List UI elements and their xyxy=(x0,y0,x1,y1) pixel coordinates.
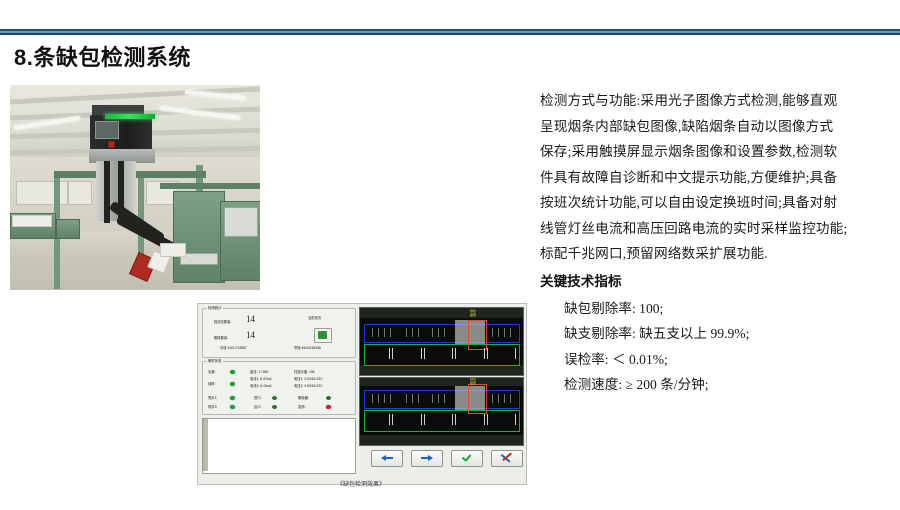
event-log-list[interactable] xyxy=(202,418,356,474)
settings-button[interactable] xyxy=(491,450,523,467)
spec-list: 缺包剔除率: 100; 缺支剔除率: 缺五支以上 99.9%; 误检率: ＜ 0… xyxy=(540,296,888,398)
reject-count-value: 14 xyxy=(246,331,255,340)
roi-blue-band xyxy=(364,390,520,409)
estop-label: 急停: xyxy=(298,405,306,409)
refresh-button[interactable] xyxy=(314,328,332,343)
exit-label: 出口: xyxy=(254,405,262,409)
sync1-status-dot xyxy=(230,396,235,400)
sync1-label: 同步1: xyxy=(208,396,217,400)
machine-rail xyxy=(160,183,260,189)
description-line: 呈现烟条内部缺包图像,缺陷烟条自动以图像方式 xyxy=(540,114,888,140)
roi-blue-band xyxy=(364,324,520,343)
page-title: 8.条缺包检测系统 xyxy=(14,44,191,72)
mid-shift-summary: 中班:14017/13987 xyxy=(220,346,247,350)
current1-value: 电流1: 8.47mA xyxy=(250,377,272,381)
log-scrollbar[interactable] xyxy=(203,419,208,471)
description-line: 件具有故障自诊断和中文提示功能,方便维护;具备 xyxy=(540,165,888,191)
detector-led-strip xyxy=(105,114,155,119)
sync2-status-dot xyxy=(230,405,235,409)
tools-icon xyxy=(502,454,513,463)
line-array-label: 线阵: xyxy=(208,382,216,386)
indicator-red xyxy=(108,141,115,148)
line-array-status-dot xyxy=(230,382,235,386)
roi-green-band xyxy=(364,410,520,432)
description-line: 标配千兆网口,预留网络数采扩展功能. xyxy=(540,241,888,267)
description-line: 按班次统计功能,可以自由设定换班时间;具备对射 xyxy=(540,190,888,216)
detection-line-photo xyxy=(10,85,260,290)
rejector-status-dot xyxy=(326,396,331,400)
description-line: 检测方式与功能:采用光子图像方式检测,能够直观 xyxy=(540,88,888,114)
voltage2-value: 电压2: 3.5V/62.22V xyxy=(294,384,322,388)
window xyxy=(16,181,68,205)
statistics-group xyxy=(202,308,356,358)
light-source-status-dot xyxy=(230,370,235,374)
early-shift-summary: 早班:45402/45408 xyxy=(294,346,321,350)
detector-display xyxy=(95,121,119,139)
machine-cabinet xyxy=(173,191,225,283)
console-panel xyxy=(12,215,52,227)
xray-view-bottom[interactable]: 缺包 报警 xyxy=(359,377,524,446)
scan-length-value: 扫描长度: 195 xyxy=(294,370,315,374)
rejector-label: 剔除器: xyxy=(298,396,309,400)
arrow-right-icon-bar xyxy=(421,457,429,459)
sync2-label: 同步2: xyxy=(208,405,217,409)
software-caption: 《缺包检测效果》 xyxy=(197,481,525,489)
estop-status-dot xyxy=(326,405,331,409)
next-image-button[interactable] xyxy=(411,450,443,467)
defect-selection-box xyxy=(468,320,487,350)
total-count-value: 14 xyxy=(246,315,255,324)
entrance-status-dot xyxy=(272,396,277,400)
description-line: 保存;采用触摸屏显示烟条图像和设置参数,检测软 xyxy=(540,139,888,165)
voltage1-value: 电压1: 3.5V/62.23V xyxy=(294,377,322,381)
current-shift-label: 当前班次 xyxy=(308,316,321,320)
high-voltage-value: 高压: 17.8kV xyxy=(250,370,269,374)
spec-item: 检测速度: ≥ 200 条/分钟; xyxy=(540,372,888,398)
spec-item: 误检率: ＜ 0.01%; xyxy=(540,347,888,373)
cabinet-door xyxy=(224,207,258,237)
reject-count-label: 剔除数量: xyxy=(214,336,228,340)
entrance-label: 进口: xyxy=(254,396,262,400)
spec-item: 缺包剔除率: 100; xyxy=(540,296,888,322)
carton-white xyxy=(160,243,186,257)
hardware-status-title: 硬件状态 xyxy=(207,359,223,363)
slide-top-rule xyxy=(0,29,900,35)
description-line: 线管灯丝电流和高压回路电流的实时采样监控功能; xyxy=(540,216,888,242)
roi-green-band xyxy=(364,344,520,366)
hardware-status-group xyxy=(202,361,356,415)
description-column: 检测方式与功能:采用光子图像方式检测,能够直观 呈现烟条内部缺包图像,缺陷烟条自… xyxy=(540,88,888,398)
total-count-label: 检测总数量: xyxy=(214,320,231,324)
spec-heading: 关键技术指标 xyxy=(540,269,888,294)
inspection-software-screenshot[interactable]: 检测统计 检测总数量: 14 剔除数量: 14 当前班次 中班:14017/13… xyxy=(197,303,527,485)
prev-image-button[interactable] xyxy=(371,450,403,467)
check-icon xyxy=(462,454,472,462)
spec-item: 缺支剔除率: 缺五支以上 99.9%; xyxy=(540,321,888,347)
current2-value: 电流2: 8.42mA xyxy=(250,384,272,388)
statistics-group-title: 检测统计 xyxy=(207,306,223,310)
xray-view-top[interactable]: 缺包 报警 xyxy=(359,307,524,376)
slide-root: 8.条缺包检测系统 xyxy=(0,0,900,510)
exit-status-dot xyxy=(272,405,277,409)
confirm-button[interactable] xyxy=(451,450,483,467)
window xyxy=(68,181,92,205)
light-source-label: 光源: xyxy=(208,370,216,374)
defect-selection-box xyxy=(468,384,487,414)
arrow-left-icon-bar xyxy=(385,457,393,459)
machine-unit xyxy=(56,219,80,239)
conveyor-belt xyxy=(104,161,110,223)
